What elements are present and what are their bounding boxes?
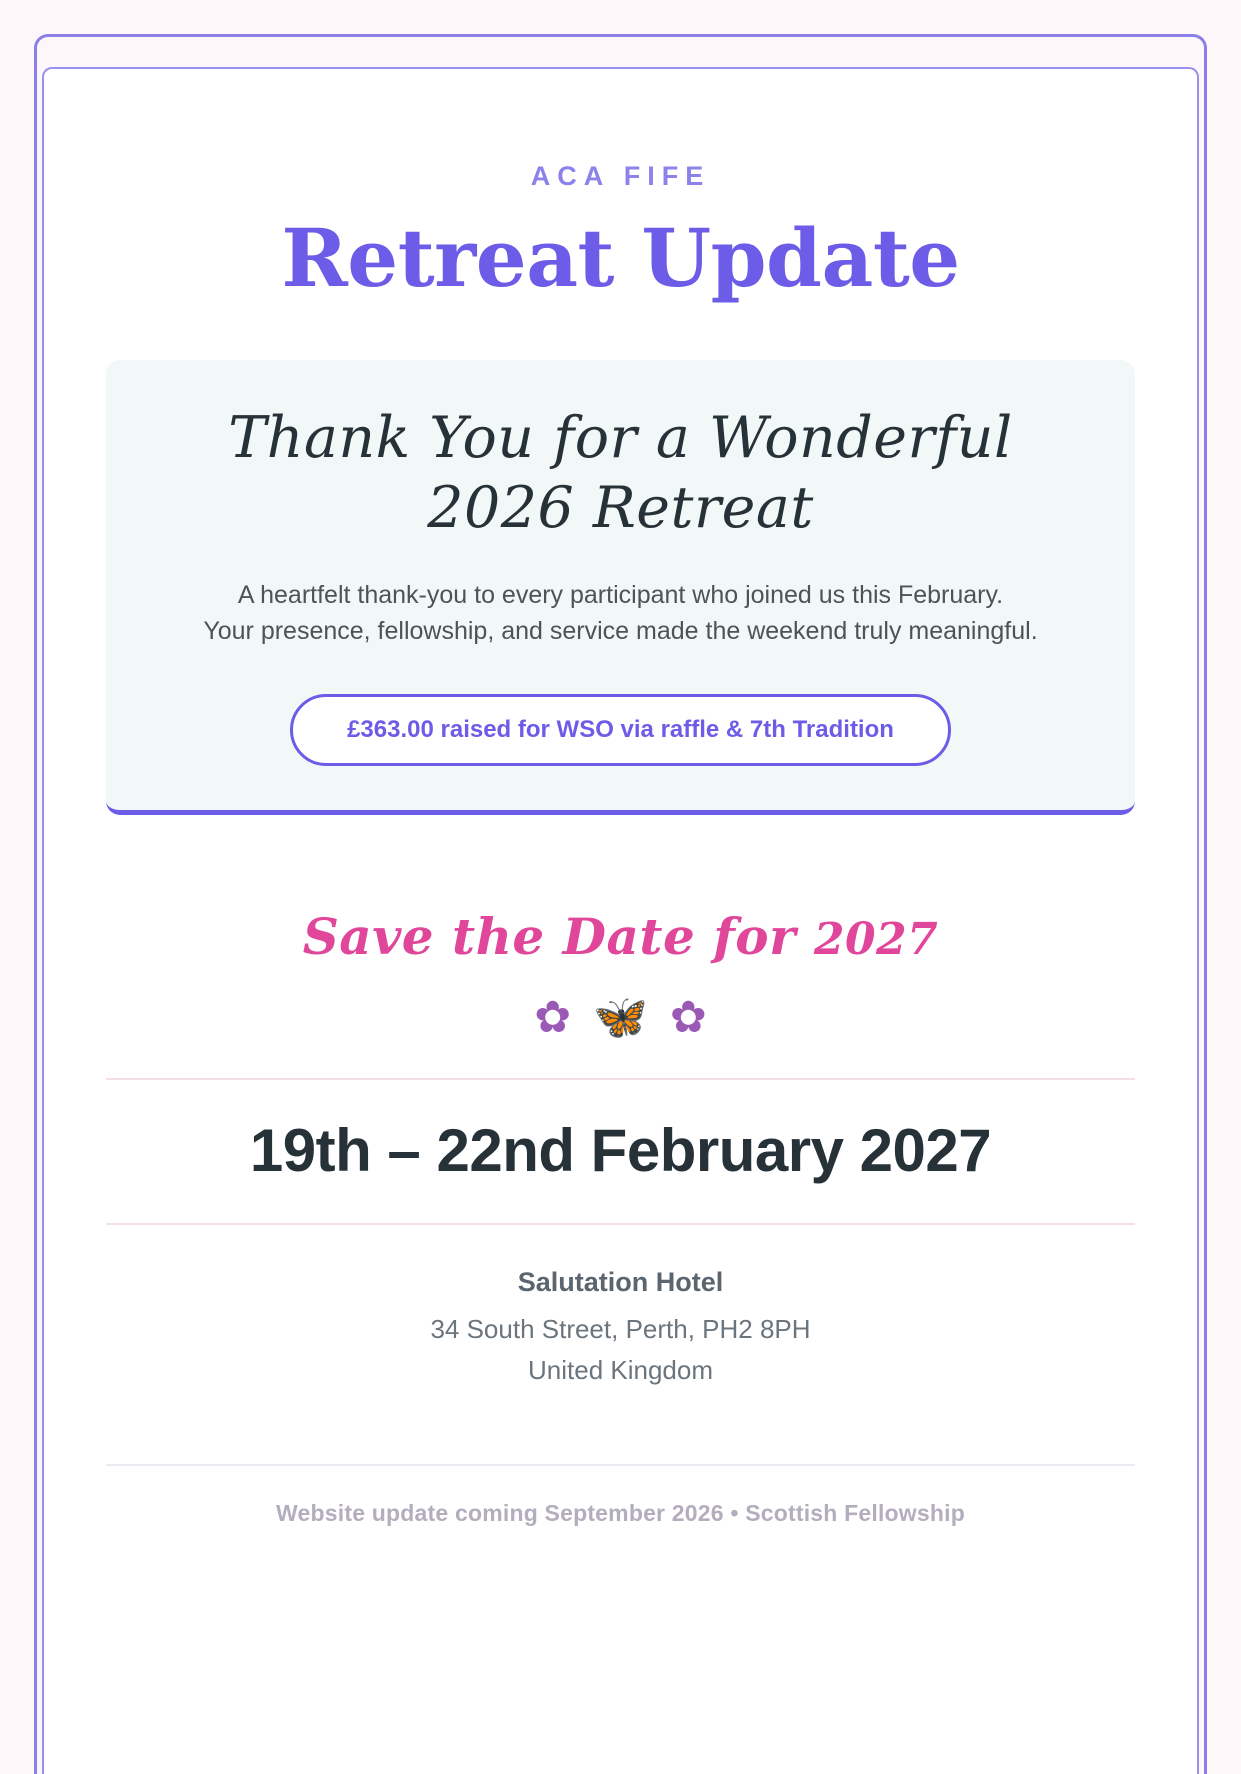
thank-you-body: A heartfelt thank-you to every participa… bbox=[150, 577, 1091, 650]
venue-block: Salutation Hotel 34 South Street, Perth,… bbox=[106, 1267, 1135, 1392]
save-the-date-heading: Save the Date for 2027 bbox=[106, 907, 1135, 966]
save-the-date-year: 2027 bbox=[814, 914, 938, 965]
page-title: Retreat Update bbox=[106, 214, 1135, 302]
funds-raised-badge[interactable]: £363.00 raised for WSO via raffle & 7th … bbox=[290, 694, 951, 766]
flyer-content: ACA FIFE Retreat Update Thank You for a … bbox=[44, 69, 1197, 1527]
venue-address-line-2: United Kingdom bbox=[106, 1350, 1135, 1392]
flower-icon: ✿ bbox=[670, 996, 707, 1040]
thank-you-body-line-1: A heartfelt thank-you to every participa… bbox=[238, 581, 1003, 609]
retreat-date-range: 19th – 22nd February 2027 bbox=[106, 1116, 1135, 1185]
thank-you-body-line-2: Your presence, fellowship, and service m… bbox=[203, 617, 1037, 645]
flyer-card: ACA FIFE Retreat Update Thank You for a … bbox=[42, 67, 1199, 1774]
butterfly-icon: 🦋 bbox=[593, 996, 648, 1040]
organisation-eyebrow: ACA FIFE bbox=[106, 161, 1135, 192]
venue-name: Salutation Hotel bbox=[106, 1267, 1135, 1298]
footer-note: Website update coming September 2026 • S… bbox=[106, 1464, 1135, 1527]
raised-pill-wrapper: £363.00 raised for WSO via raffle & 7th … bbox=[150, 694, 1091, 766]
retreat-date-band: 19th – 22nd February 2027 bbox=[106, 1078, 1135, 1225]
venue-address-line-1: 34 South Street, Perth, PH2 8PH bbox=[106, 1309, 1135, 1351]
decorative-glyph-row: ✿ 🦋 ✿ bbox=[106, 996, 1135, 1040]
save-the-date-text: Save the Date for bbox=[303, 907, 814, 966]
flower-icon: ✿ bbox=[534, 996, 571, 1040]
thank-you-heading: Thank You for a Wonderful 2026 Retreat bbox=[150, 404, 1091, 543]
thank-you-card: Thank You for a Wonderful 2026 Retreat A… bbox=[106, 360, 1135, 815]
